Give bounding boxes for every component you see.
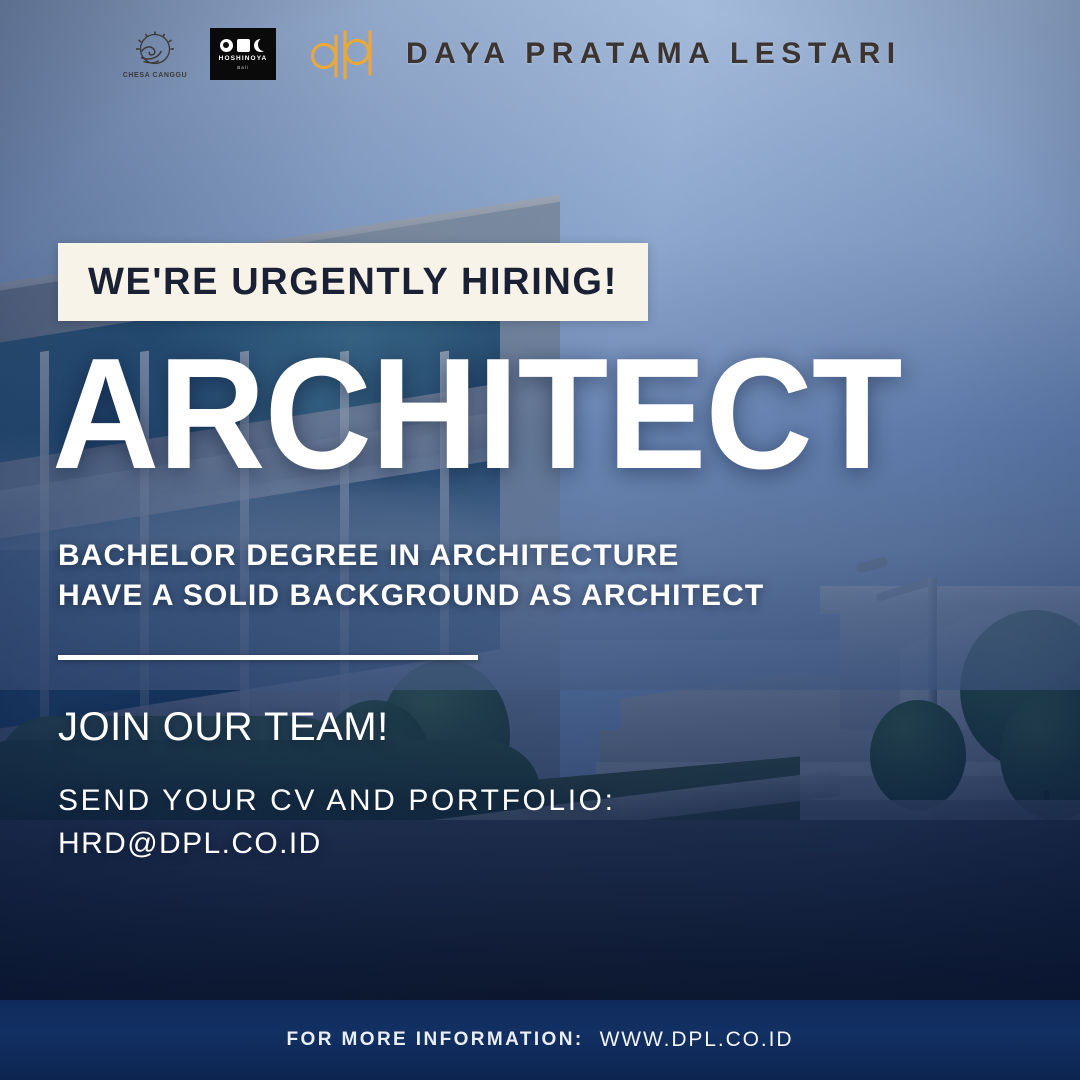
hiring-banner: WE'RE URGENTLY HIRING!: [58, 243, 648, 321]
hiring-banner-text: WE'RE URGENTLY HIRING!: [88, 261, 618, 304]
wave-sun-logo-icon: [133, 30, 177, 70]
footer-bar: FOR MORE INFORMATION: WWW.DPL.CO.ID: [0, 1000, 1080, 1080]
hoshinoya-marks-icon: [220, 39, 267, 52]
logo-hoshinoya-name: HOSHINOYA: [219, 55, 268, 62]
job-title: ARCHITECT: [52, 342, 902, 487]
requirements-list: BACHELOR DEGREE IN ARCHITECTURE HAVE A S…: [58, 536, 938, 616]
hoshinoya-mark-moon: [254, 39, 267, 52]
dpl-monogram-icon: [304, 26, 378, 82]
logo-chesa-canggu: CHESA CANGGU: [128, 30, 182, 79]
job-vacancy-poster: CHESA CANGGU HOSHINOYA Bali: [0, 0, 1080, 1080]
company-name: DAYA PRATAMA LESTARI: [406, 37, 902, 71]
footer-website-url[interactable]: WWW.DPL.CO.ID: [600, 1028, 794, 1052]
application-instruction: SEND YOUR CV AND PORTFOLIO:: [58, 780, 616, 823]
application-block: SEND YOUR CV AND PORTFOLIO: HRD@DPL.CO.I…: [58, 780, 616, 865]
requirement-item: BACHELOR DEGREE IN ARCHITECTURE: [58, 536, 938, 576]
header: CHESA CANGGU HOSHINOYA Bali: [0, 0, 1080, 108]
footer-label: FOR MORE INFORMATION:: [287, 1029, 584, 1051]
poster-content: WE'RE URGENTLY HIRING! ARCHITECT BACHELO…: [0, 0, 1080, 1080]
section-divider: [58, 655, 478, 660]
requirement-item: HAVE A SOLID BACKGROUND AS ARCHITECT: [58, 576, 938, 616]
call-to-action: JOIN OUR TEAM!: [58, 705, 389, 750]
application-email[interactable]: HRD@DPL.CO.ID: [58, 823, 616, 866]
logo-hoshinoya-sub: Bali: [237, 65, 249, 70]
hoshinoya-mark-two: [237, 39, 250, 52]
logo-dpl: [304, 26, 378, 82]
logo-chesa-caption: CHESA CANGGU: [123, 72, 188, 79]
logo-hoshinoya-bali: HOSHINOYA Bali: [210, 28, 276, 80]
hoshinoya-mark-one: [220, 39, 233, 52]
